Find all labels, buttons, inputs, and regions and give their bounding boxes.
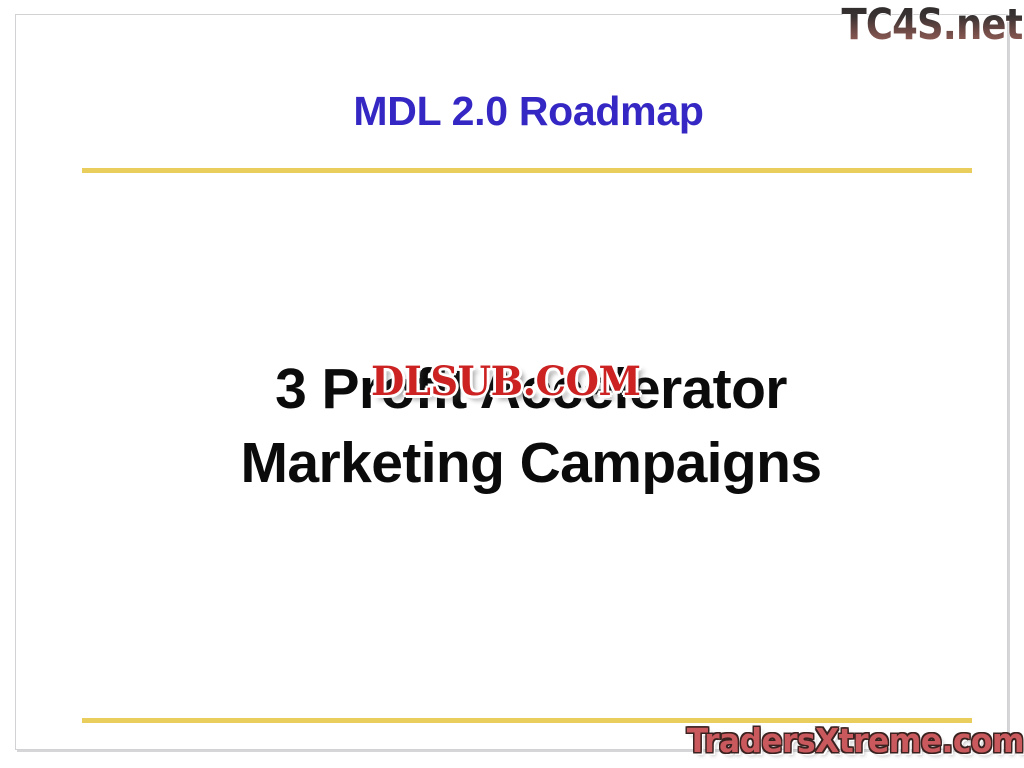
slide-frame: MDL 2.0 Roadmap 3 Profit Accelerator Mar…: [15, 14, 1008, 750]
slide-root: MDL 2.0 Roadmap 3 Profit Accelerator Mar…: [0, 0, 1024, 768]
slide-body-text: 3 Profit Accelerator Marketing Campaigns: [76, 352, 986, 500]
divider-top: [82, 168, 972, 173]
divider-bottom: [82, 718, 972, 723]
body-line-2: Marketing Campaigns: [76, 426, 986, 500]
body-line-1: 3 Profit Accelerator: [76, 352, 986, 426]
page-title: MDL 2.0 Roadmap: [76, 87, 981, 135]
